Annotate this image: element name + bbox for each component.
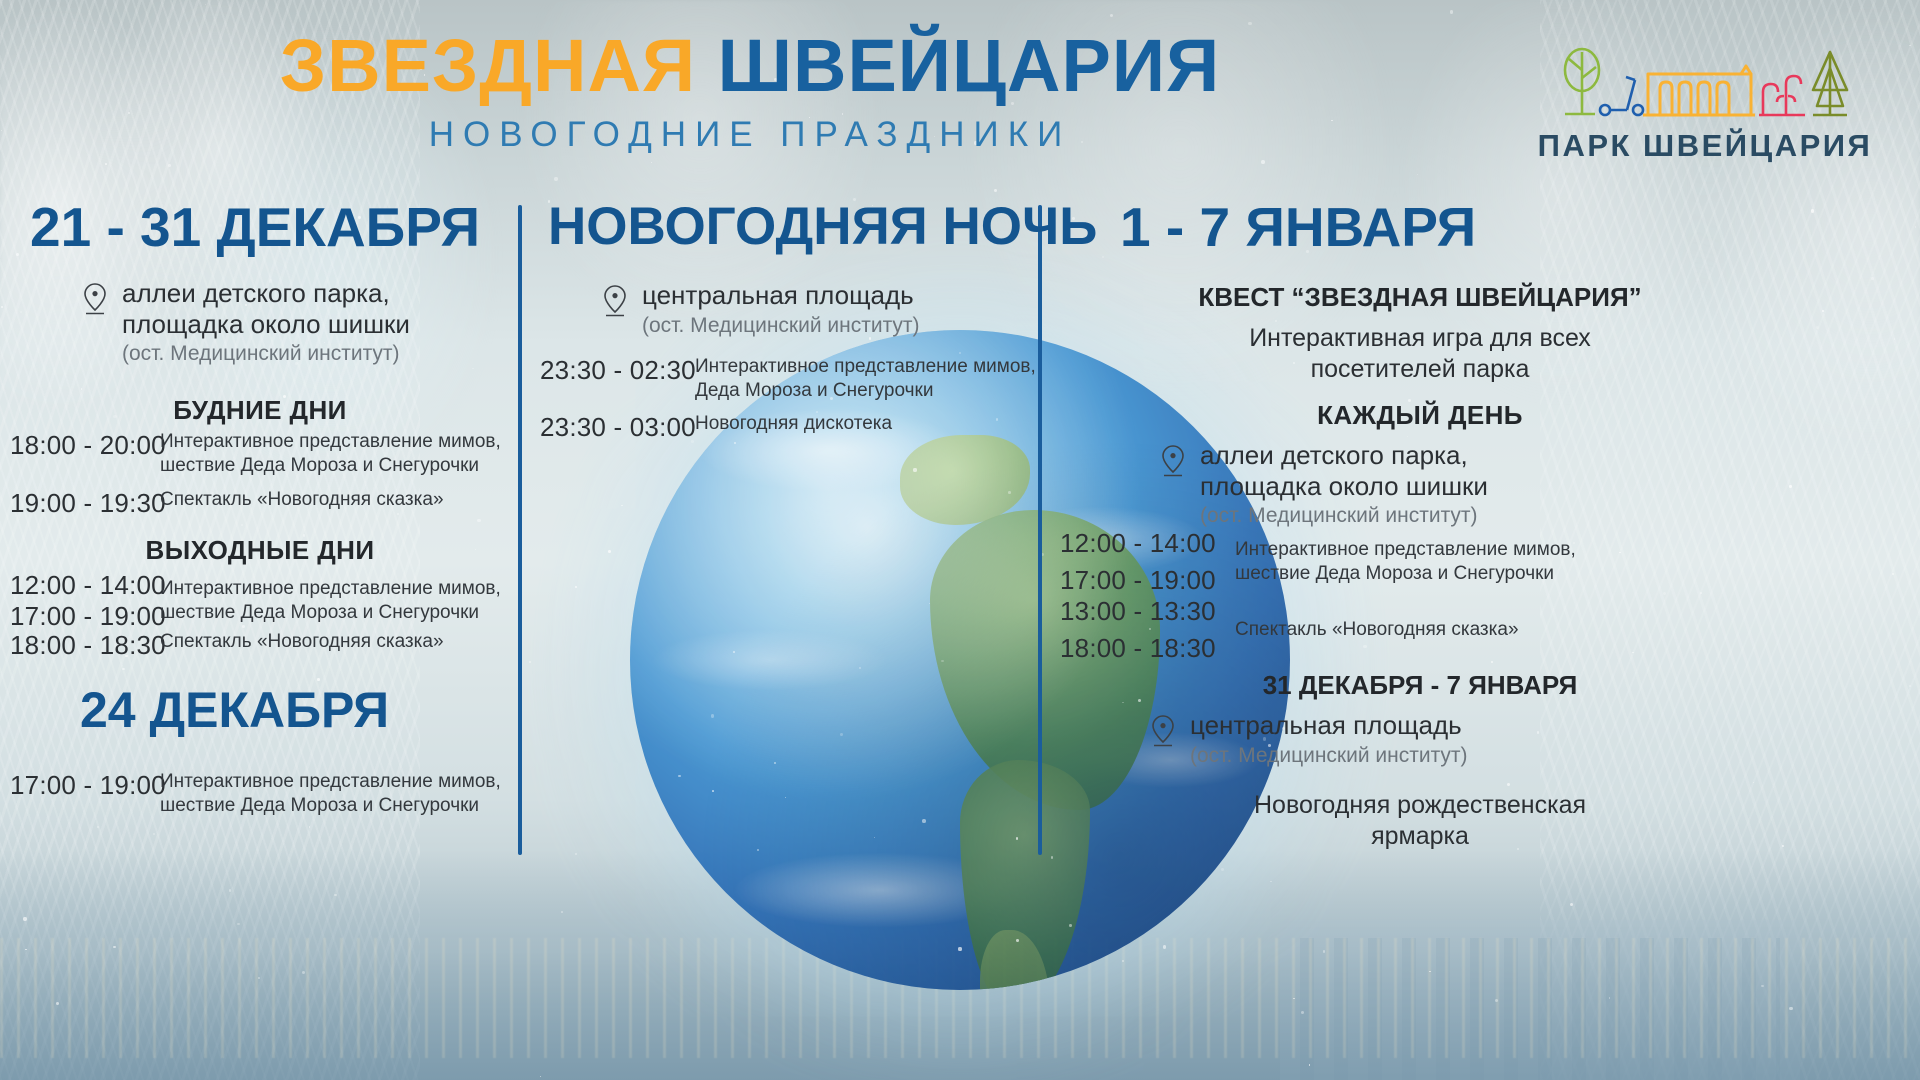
event-time: 19:00 - 19:30 xyxy=(10,488,160,519)
event-desc-line1: Интерактивное представление мимов, xyxy=(160,578,501,599)
location-text-left: аллеи детского парка, площадка около шиш… xyxy=(122,278,410,367)
location-text-middle: центральная площадь (ост. Медицинский ин… xyxy=(642,280,920,338)
event-time: 12:00 - 14:00 17:00 - 19:00 xyxy=(10,570,160,632)
event-desc: Интерактивное представление мимов, шеств… xyxy=(160,577,501,625)
event-time-line1: 13:00 - 13:30 xyxy=(1060,593,1235,630)
location-sub-right-2: (ост. Медицинский институт) xyxy=(1190,743,1468,768)
colonnade-icon xyxy=(1643,66,1755,115)
fir-tree-icon xyxy=(1813,52,1847,115)
location-pin-icon xyxy=(1160,444,1186,483)
event-desc-line1: Интерактивное представление мимов, xyxy=(695,356,1036,377)
quest-description: Интерактивная игра для всех посетителей … xyxy=(1100,323,1740,386)
event-row: 12:00 - 14:00 17:00 - 19:00 Интерактивно… xyxy=(1060,525,1860,599)
event-desc: Спектакль «Новогодняя сказка» xyxy=(1235,618,1519,642)
location-line1: центральная площадь xyxy=(642,280,914,310)
event-time-line2: 17:00 - 19:00 xyxy=(10,601,166,631)
park-logo: ПАРК ШВЕЙЦАРИЯ xyxy=(1520,42,1890,164)
fair-line2: ярмарка xyxy=(1371,822,1469,850)
poster-root: ЗВЕЗДНАЯ ШВЕЙЦАРИЯ НОВОГОДНИЕ ПРАЗДНИКИ xyxy=(0,0,1920,1080)
event-desc-line1: Интерактивное представление мимов, xyxy=(160,431,501,452)
event-row: 13:00 - 13:30 18:00 - 18:30 Спектакль «Н… xyxy=(1060,593,1860,667)
location-text-right-2: центральная площадь (ост. Медицинский ин… xyxy=(1190,710,1468,768)
location-line2: площадка около шишки xyxy=(1200,471,1488,501)
event-desc: Спектакль «Новогодняя сказка» xyxy=(160,488,444,512)
event-row: 23:30 - 02:30 Интерактивное представлени… xyxy=(540,355,1040,403)
title-word-shveycariya: ШВЕЙЦАРИЯ xyxy=(718,24,1221,107)
location-pin-icon xyxy=(82,282,108,321)
event-time: 17:00 - 19:00 xyxy=(10,770,160,801)
logo-icons-svg xyxy=(1555,44,1855,122)
event-time: 23:30 - 03:00 xyxy=(540,412,695,443)
event-time: 23:30 - 02:30 xyxy=(540,355,695,386)
event-desc: Интерактивное представление мимов, шеств… xyxy=(160,430,501,478)
location-block-middle: центральная площадь (ост. Медицинский ин… xyxy=(602,280,1022,338)
event-row: 12:00 - 14:00 17:00 - 19:00 Интерактивно… xyxy=(10,570,520,632)
schedule-columns: 21 - 31 ДЕКАБРЯ аллеи детского парка, пл… xyxy=(0,190,1920,1060)
location-text-right: аллеи детского парка, площадка около шиш… xyxy=(1200,440,1488,529)
event-time-line1: 12:00 - 14:00 xyxy=(1060,525,1235,562)
location-pin-icon xyxy=(602,284,628,323)
location-line1: аллеи детского парка, xyxy=(122,278,390,308)
column-heading-january: 1 - 7 ЯНВАРЯ xyxy=(1120,200,1476,255)
column-december: 21 - 31 ДЕКАБРЯ аллеи детского парка, пл… xyxy=(0,190,520,1060)
location-block-left: аллеи детского парка, площадка около шиш… xyxy=(82,278,502,367)
section-title-31dec-7jan: 31 ДЕКАБРЯ - 7 ЯНВАРЯ xyxy=(1040,670,1800,701)
event-time-group: 12:00 - 14:00 17:00 - 19:00 xyxy=(1060,525,1235,599)
logo-text: ПАРК ШВЕЙЦАРИЯ xyxy=(1520,128,1890,164)
event-row: 19:00 - 19:30 Спектакль «Новогодняя сказ… xyxy=(10,488,520,519)
page-subtitle: НОВОГОДНИЕ ПРАЗДНИКИ xyxy=(0,115,1500,155)
event-desc: Интерактивное представление мимов, шеств… xyxy=(160,770,501,818)
event-desc-line2: Деда Мороза и Снегурочки xyxy=(695,380,933,401)
fountain-icon xyxy=(1759,76,1805,115)
event-desc: Интерактивное представление мимов, Деда … xyxy=(695,355,1036,403)
quest-desc-line1: Интерактивная игра для всех xyxy=(1249,324,1591,352)
location-sub-middle: (ост. Медицинский институт) xyxy=(642,313,920,338)
title-block: ЗВЕЗДНАЯ ШВЕЙЦАРИЯ НОВОГОДНИЕ ПРАЗДНИКИ xyxy=(0,28,1500,155)
event-desc-line2: шествие Деда Мороза и Снегурочки xyxy=(160,795,479,816)
event-time-group: 13:00 - 13:30 18:00 - 18:30 xyxy=(1060,593,1235,667)
event-desc-line1: Интерактивное представление мимов, xyxy=(160,771,501,792)
quest-desc-line2: посетителей парка xyxy=(1311,355,1530,383)
event-desc-line2: шествие Деда Мороза и Снегурочки xyxy=(160,602,479,623)
location-line2: площадка около шишки xyxy=(122,309,410,339)
event-row: 17:00 - 19:00 Интерактивное представлени… xyxy=(10,770,520,818)
page-title: ЗВЕЗДНАЯ ШВЕЙЦАРИЯ xyxy=(0,28,1500,103)
section-title-weekdays: БУДНИЕ ДНИ xyxy=(0,395,520,426)
fair-description: Новогодняя рождественская ярмарка xyxy=(1100,790,1740,853)
event-time-line1: 12:00 - 14:00 xyxy=(10,570,166,600)
location-line1: центральная площадь xyxy=(1190,710,1462,740)
column-january: 1 - 7 ЯНВАРЯ КВЕСТ “ЗВЕЗДНАЯ ШВЕЙЦАРИЯ” … xyxy=(1040,190,1920,1060)
column-new-year-night: НОВОГОДНЯЯ НОЧЬ центральная площадь (ост… xyxy=(520,190,1040,1060)
event-desc-line1: Интерактивное представление мимов, xyxy=(1235,539,1576,560)
section-title-everyday: КАЖДЫЙ ДЕНЬ xyxy=(1040,400,1800,431)
event-time-line2: 18:00 - 18:30 xyxy=(1060,630,1235,667)
quest-title: КВЕСТ “ЗВЕЗДНАЯ ШВЕЙЦАРИЯ” xyxy=(1040,282,1800,313)
event-time: 18:00 - 20:00 xyxy=(10,430,160,461)
location-block-right: аллеи детского парка, площадка около шиш… xyxy=(1160,440,1720,529)
event-row: 18:00 - 20:00 Интерактивное представлени… xyxy=(10,430,520,478)
logo-mark xyxy=(1520,42,1890,122)
scooter-icon xyxy=(1600,77,1643,115)
event-row: 23:30 - 03:00 Новогодняя дискотека xyxy=(540,412,1040,443)
event-desc: Спектакль «Новогодняя сказка» xyxy=(160,630,444,654)
event-row: 18:00 - 18:30 Спектакль «Новогодняя сказ… xyxy=(10,630,520,661)
location-block-right-2: центральная площадь (ост. Медицинский ин… xyxy=(1150,710,1730,768)
event-desc-line2: шествие Деда Мороза и Снегурочки xyxy=(1235,563,1554,584)
column-heading-24-december: 24 ДЕКАБРЯ xyxy=(80,685,389,735)
fair-line1: Новогодняя рождественская xyxy=(1254,791,1586,819)
location-sub-left: (ост. Медицинский институт) xyxy=(122,341,410,366)
event-desc-line2: шествие Деда Мороза и Снегурочки xyxy=(160,455,479,476)
title-word-zvezdnaya: ЗВЕЗДНАЯ xyxy=(280,24,696,107)
column-heading-december: 21 - 31 ДЕКАБРЯ xyxy=(30,200,480,255)
event-desc: Интерактивное представление мимов, шеств… xyxy=(1235,538,1576,586)
column-heading-new-year-night: НОВОГОДНЯЯ НОЧЬ xyxy=(548,200,1097,253)
event-time: 18:00 - 18:30 xyxy=(10,630,160,661)
tree-icon xyxy=(1565,49,1599,114)
section-title-weekend: ВЫХОДНЫЕ ДНИ xyxy=(0,535,520,566)
location-pin-icon xyxy=(1150,714,1176,753)
location-line1: аллеи детского парка, xyxy=(1200,440,1468,470)
event-desc: Новогодняя дискотека xyxy=(695,412,892,436)
poster-header: ЗВЕЗДНАЯ ШВЕЙЦАРИЯ НОВОГОДНИЕ ПРАЗДНИКИ xyxy=(0,28,1920,168)
